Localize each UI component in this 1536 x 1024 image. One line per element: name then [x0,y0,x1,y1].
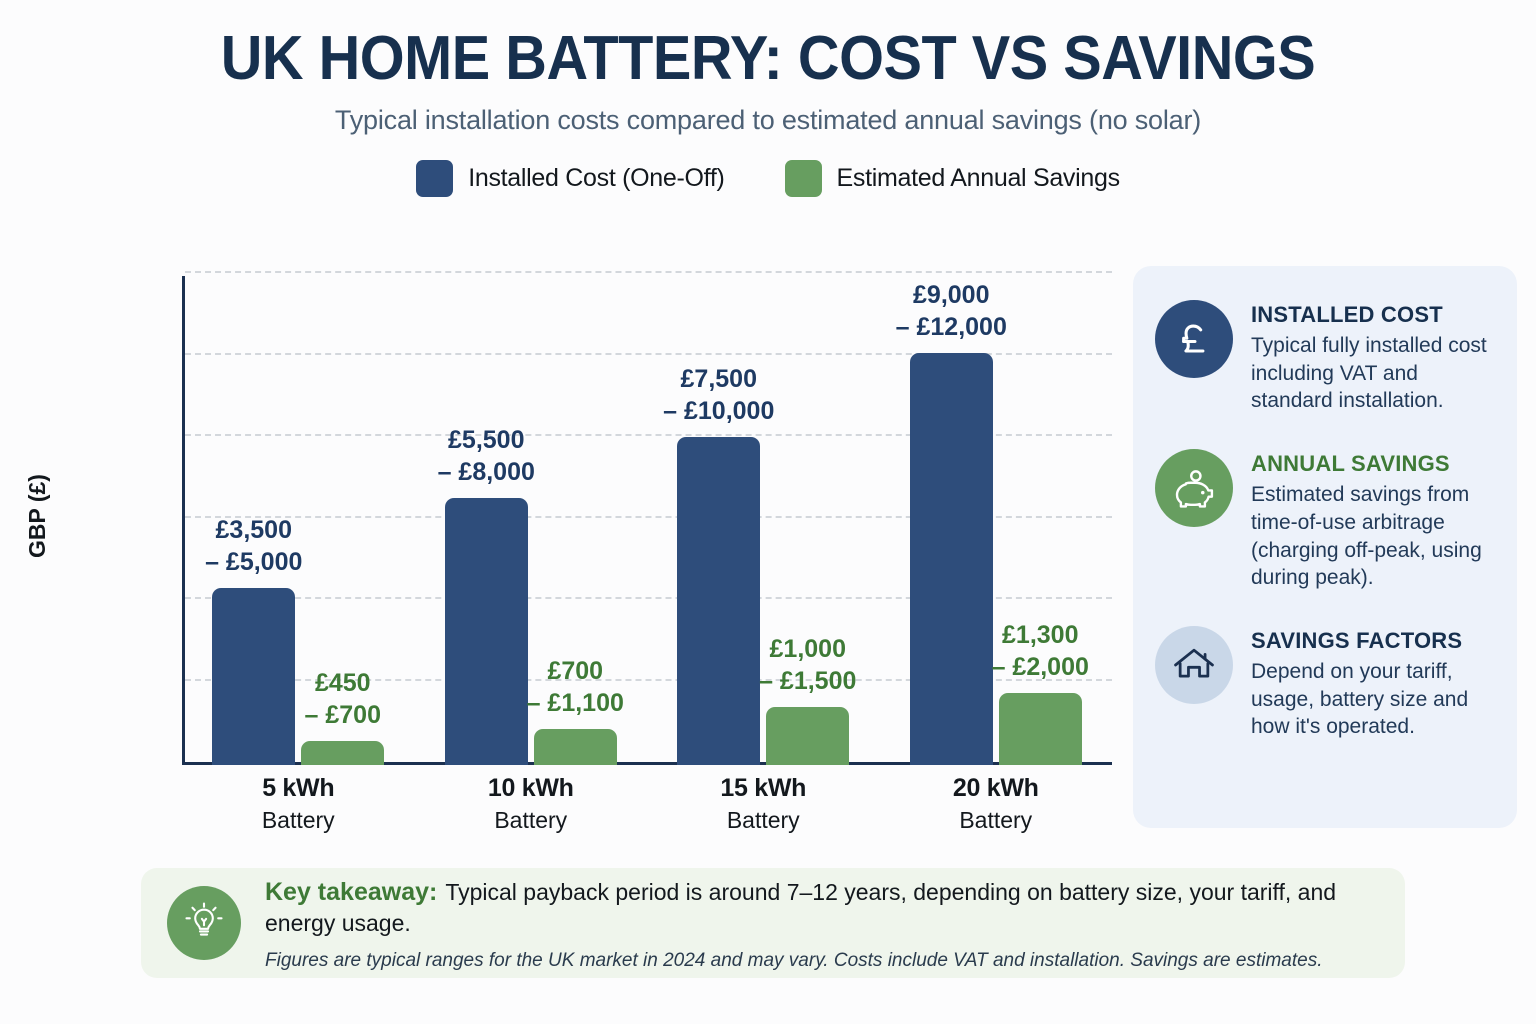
bar-label-line1: £5,500 [448,426,524,454]
info-card-savings-factors: SAVINGS FACTORS Depend on your tariff, u… [1155,626,1491,741]
bar-value-label-saving: £1,000– £1,500 [703,633,913,697]
bar-saving[interactable] [766,707,849,765]
bar-label-line2: – £1,500 [703,665,913,697]
bar-value-label-saving: £450– £700 [238,667,448,731]
bar-label-line2: – £2,000 [935,651,1145,683]
info-desc-annual-savings: Estimated savings from time-of-use arbit… [1251,481,1491,592]
page-title: UK HOME BATTERY: COST VS SAVINGS [54,26,1482,91]
footnote: Figures are typical ranges for the UK ma… [265,950,1377,972]
info-text-savings-factors: SAVINGS FACTORS Depend on your tariff, u… [1251,626,1491,741]
bar-label-line1: £7,500 [681,365,757,393]
bar-group: £7,500– £10,000£1,000– £1,500 [658,276,868,765]
piggy-bank-icon [1155,449,1233,527]
key-takeaway-banner: Key takeaway:Typical payback period is a… [141,868,1405,978]
gridline [185,271,1112,273]
bar-label-line1: £1,000 [770,635,846,663]
bar-label-line1: £450 [315,669,371,697]
bar-cost[interactable] [445,498,528,765]
header: UK HOME BATTERY: COST VS SAVINGS Typical… [0,0,1536,197]
body-row: GBP (£) £0£2,000£4,000£6,000£8,000£10,00… [0,258,1536,848]
house-icon [1155,626,1233,704]
bar-label-line1: £3,500 [216,516,292,544]
info-heading-installed-cost: INSTALLED COST [1251,302,1491,328]
info-side-panel: INSTALLED COST Typical fully installed c… [1133,266,1517,828]
lightbulb-icon [167,886,241,960]
bar-groups: £3,500– £5,000£450– £700£5,500– £8,000£7… [182,276,1112,765]
bar-label-line1: £9,000 [913,281,989,309]
x-axis-label-sub: Battery [193,807,403,834]
bar-group: £5,500– £8,000£700– £1,100 [426,276,636,765]
bar-wrapper-saving: £450– £700 [301,276,384,765]
page-subtitle: Typical installation costs compared to e… [0,105,1536,136]
bar-group: £9,000– £12,000£1,300– £2,000 [891,276,1101,765]
info-desc-savings-factors: Depend on your tariff, usage, battery si… [1251,658,1491,741]
chart-legend: Installed Cost (One-Off) Estimated Annua… [0,160,1536,197]
bar-chart: GBP (£) £0£2,000£4,000£6,000£8,000£10,00… [0,258,1130,848]
x-axis-label: 15 kWhBattery [658,774,868,834]
x-axis-label-capacity: 15 kWh [658,774,868,803]
info-text-annual-savings: ANNUAL SAVINGS Estimated savings from ti… [1251,449,1491,592]
info-heading-annual-savings: ANNUAL SAVINGS [1251,451,1491,477]
info-desc-installed-cost: Typical fully installed cost including V… [1251,332,1491,415]
bar-group: £3,500– £5,000£450– £700 [193,276,403,765]
y-axis-title: GBP (£) [24,474,51,558]
info-text-installed-cost: INSTALLED COST Typical fully installed c… [1251,300,1491,415]
bar-wrapper-cost: £9,000– £12,000 [910,276,993,765]
bar-label-line2: – £1,100 [470,687,680,719]
bar-label-line2: – £700 [238,699,448,731]
x-axis-label: 10 kWhBattery [426,774,636,834]
legend-label-annual-savings: Estimated Annual Savings [837,164,1120,193]
bar-cost[interactable] [677,437,760,765]
takeaway-label: Key takeaway: [265,878,437,906]
takeaway-line: Key takeaway:Typical payback period is a… [265,876,1377,938]
bar-wrapper-saving: £1,000– £1,500 [766,276,849,765]
x-axis-label: 5 kWhBattery [193,774,403,834]
x-axis-label-sub: Battery [658,807,868,834]
bar-value-label-saving: £700– £1,100 [470,655,680,719]
legend-item-installed-cost[interactable]: Installed Cost (One-Off) [416,160,724,197]
x-axis-label-capacity: 5 kWh [193,774,403,803]
pound-sterling-icon [1155,300,1233,378]
x-axis-label-sub: Battery [426,807,636,834]
info-heading-savings-factors: SAVINGS FACTORS [1251,628,1491,654]
x-axis-label-sub: Battery [891,807,1101,834]
bar-saving[interactable] [534,729,617,765]
bar-label-line1: £1,300 [1002,621,1078,649]
x-axis-label: 20 kWhBattery [891,774,1101,834]
info-card-annual-savings: ANNUAL SAVINGS Estimated savings from ti… [1155,449,1491,592]
legend-swatch-cost-icon [416,160,453,197]
legend-label-installed-cost: Installed Cost (One-Off) [468,164,724,193]
bar-value-label-saving: £1,300– £2,000 [935,619,1145,683]
bar-wrapper-saving: £700– £1,100 [534,276,617,765]
x-axis-label-capacity: 20 kWh [891,774,1101,803]
info-card-installed-cost: INSTALLED COST Typical fully installed c… [1155,300,1491,415]
bar-label-line1: £700 [547,657,603,685]
legend-item-annual-savings[interactable]: Estimated Annual Savings [785,160,1120,197]
bar-cost[interactable] [910,353,993,765]
x-axis-label-capacity: 10 kWh [426,774,636,803]
bar-saving[interactable] [999,693,1082,765]
x-axis-labels: 5 kWhBattery10 kWhBattery15 kWhBattery20… [182,774,1112,834]
footer-text: Key takeaway:Typical payback period is a… [265,874,1377,971]
bar-wrapper-saving: £1,300– £2,000 [999,276,1082,765]
legend-swatch-savings-icon [785,160,822,197]
bar-saving[interactable] [301,741,384,765]
